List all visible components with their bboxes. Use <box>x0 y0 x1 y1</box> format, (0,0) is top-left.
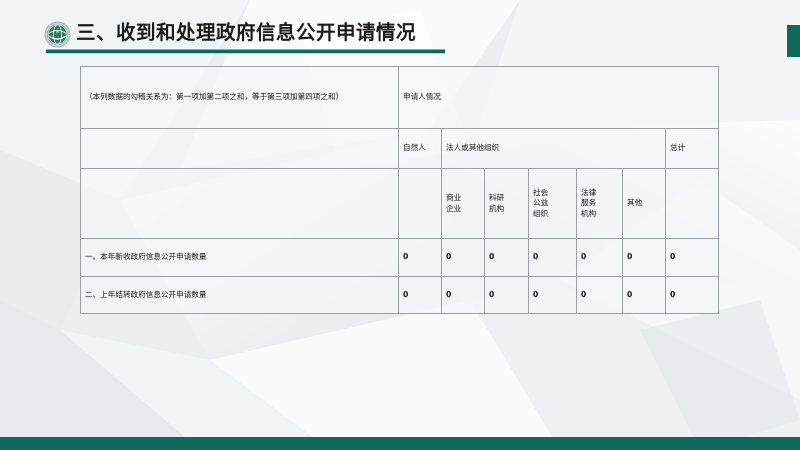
cell-carried-over-commercial: 0 <box>442 277 485 314</box>
empty-corner-cell-2 <box>81 169 399 239</box>
cell-carried-over-natural-person: 0 <box>399 277 442 314</box>
sub-col-legal-service-label: 法律服务机构 <box>581 188 601 218</box>
title-underline-rule <box>46 49 445 54</box>
sub-col-other-label: 其他 <box>627 198 647 208</box>
row-label-new-received: 一、本年新收政府信息公开申请数量 <box>81 239 399 277</box>
col-header-total: 总计 <box>666 129 719 169</box>
page-title: 三、收到和处理政府信息公开申请情况 <box>76 18 416 48</box>
sub-col-legal-service: 法律服务机构 <box>577 169 623 239</box>
cell-new-received-public-welfare: 0 <box>529 239 577 277</box>
sub-col-commercial: 商业企业 <box>442 169 485 239</box>
table-row-subcategory-header: 商业企业 科研机构 社会公益组织 法律服务机构 其他 <box>81 169 719 239</box>
cell-new-received-natural-person: 0 <box>399 239 442 277</box>
sub-col-commercial-label: 商业企业 <box>446 193 466 213</box>
sub-col-public-welfare: 社会公益组织 <box>529 169 577 239</box>
cell-carried-over-total: 0 <box>666 277 719 314</box>
sub-col-research-label: 科研机构 <box>489 193 509 213</box>
sub-col-other: 其他 <box>623 169 666 239</box>
bottom-accent-bar <box>0 437 800 450</box>
corner-accent-block <box>786 24 800 58</box>
slide-canvas: 三、收到和处理政府信息公开申请情况 （本列数据的勾稽关系为：第一项加第二项之和，… <box>0 0 800 450</box>
table-row: 二、上年结转政府信息公开申请数量 0 0 0 0 0 0 0 <box>81 277 719 314</box>
applications-statistics-table: （本列数据的勾稽关系为：第一项加第二项之和，等于第三项加第四项之和） 申请人情况… <box>80 66 719 314</box>
cell-new-received-total: 0 <box>666 239 719 277</box>
cell-carried-over-research: 0 <box>485 277 529 314</box>
col-header-legal-entity: 法人或其他组织 <box>442 129 666 169</box>
cell-new-received-research: 0 <box>485 239 529 277</box>
empty-total-sub <box>666 169 719 239</box>
row-label-carried-over: 二、上年结转政府信息公开申请数量 <box>81 277 399 314</box>
cell-new-received-commercial: 0 <box>442 239 485 277</box>
table-row: 一、本年新收政府信息公开申请数量 0 0 0 0 0 0 0 <box>81 239 719 277</box>
empty-natural-person-sub <box>399 169 442 239</box>
col-header-natural-person: 自然人 <box>399 129 442 169</box>
table-row-note: （本列数据的勾稽关系为：第一项加第二项之和，等于第三项加第四项之和） 申请人情况 <box>81 67 719 129</box>
cell-carried-over-other: 0 <box>623 277 666 314</box>
sub-col-public-welfare-label: 社会公益组织 <box>533 188 553 218</box>
circular-emblem-logo-icon <box>44 21 71 48</box>
sub-col-research: 科研机构 <box>485 169 529 239</box>
cell-carried-over-legal-service: 0 <box>577 277 623 314</box>
note-cell: （本列数据的勾稽关系为：第一项加第二项之和，等于第三项加第四项之和） <box>81 67 399 129</box>
cell-new-received-legal-service: 0 <box>577 239 623 277</box>
table-row-category-header: 自然人 法人或其他组织 总计 <box>81 129 719 169</box>
cell-carried-over-public-welfare: 0 <box>529 277 577 314</box>
group-header-applicant: 申请人情况 <box>399 67 719 129</box>
cell-new-received-other: 0 <box>623 239 666 277</box>
title-block: 三、收到和处理政府信息公开申请情况 <box>40 18 460 60</box>
empty-corner-cell <box>81 129 399 169</box>
